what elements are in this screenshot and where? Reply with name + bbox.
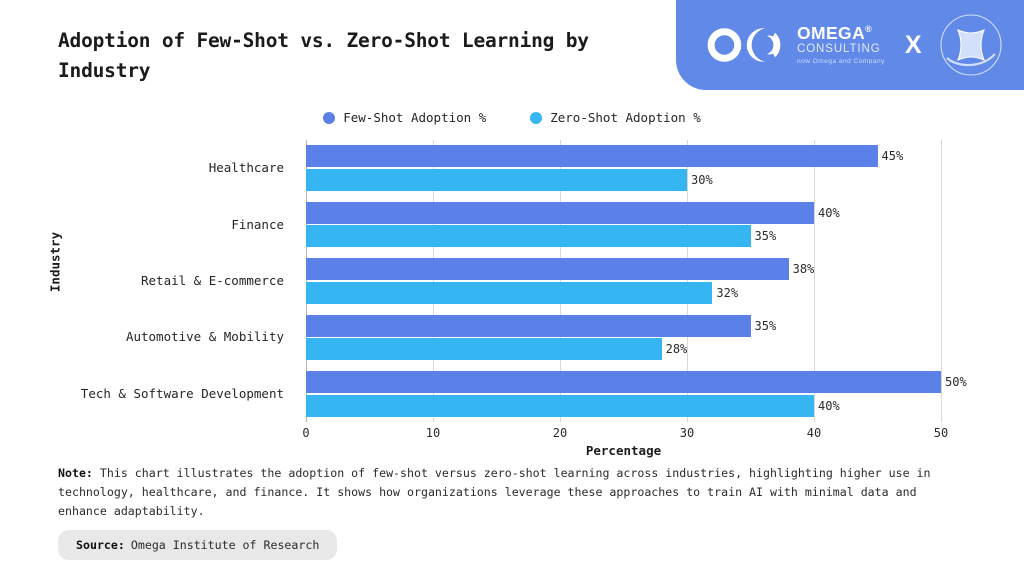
bar-value-label: 38% [789, 262, 815, 276]
brand-wordmark: OMEGA® CONSULTING now Omega and Company [797, 25, 885, 66]
registered-mark: ® [865, 24, 872, 34]
x-axis-tick-label: 40 [807, 426, 821, 440]
source-text: Omega Institute of Research [131, 538, 319, 552]
bar-value-label: 45% [878, 149, 904, 163]
note-label: Note: [58, 466, 93, 480]
y-axis-label: Automotive & Mobility [0, 329, 284, 344]
legend-item-zero-shot[interactable]: Zero-Shot Adoption % [530, 110, 701, 125]
bar-group: 35% [306, 315, 941, 337]
bar-value-label: 50% [941, 375, 967, 389]
bar-few-shot[interactable] [306, 145, 878, 167]
source-badge: Source: Omega Institute of Research [58, 530, 337, 560]
x-axis-tick-label: 20 [553, 426, 567, 440]
infinity-logo-icon [702, 23, 786, 67]
x-axis-title: Percentage [306, 443, 941, 458]
y-axis-label: Healthcare [0, 160, 284, 175]
y-axis-label: Tech & Software Development [0, 386, 284, 401]
brand-subtitle: CONSULTING [797, 44, 885, 56]
bar-zero-shot[interactable] [306, 338, 662, 360]
bar-group: 28% [306, 338, 941, 360]
y-axis-label: Finance [0, 217, 284, 232]
chart-note: Note: This chart illustrates the adoptio… [58, 464, 970, 520]
bar-value-label: 35% [751, 229, 777, 243]
brand-name: OMEGA® [797, 25, 885, 43]
chart-page: Adoption of Few-Shot vs. Zero-Shot Learn… [0, 0, 1024, 576]
brand-separator-x: X [905, 31, 922, 60]
page-title: Adoption of Few-Shot vs. Zero-Shot Learn… [58, 26, 658, 85]
y-axis-title: Industry [48, 232, 63, 292]
bar-group: 40% [306, 202, 941, 224]
legend-swatch-icon [323, 112, 335, 124]
bar-group: 35% [306, 225, 941, 247]
bar-zero-shot[interactable] [306, 225, 751, 247]
y-axis-category-labels: HealthcareFinanceRetail & E-commerceAuto… [0, 140, 296, 422]
source-label: Source: [76, 538, 125, 552]
bar-value-label: 35% [751, 319, 777, 333]
bar-value-label: 40% [814, 206, 840, 220]
bar-group: 32% [306, 282, 941, 304]
bar-zero-shot[interactable] [306, 282, 712, 304]
bar-zero-shot[interactable] [306, 169, 687, 191]
bar-value-label: 40% [814, 399, 840, 413]
legend-swatch-icon [530, 112, 542, 124]
brand-banner: OMEGA® CONSULTING now Omega and Company … [676, 0, 1024, 90]
y-axis-label: Retail & E-commerce [0, 273, 284, 288]
bar-value-label: 32% [712, 286, 738, 300]
x-axis-tick-label: 0 [302, 426, 309, 440]
bar-few-shot[interactable] [306, 315, 751, 337]
bar-few-shot[interactable] [306, 258, 789, 280]
brand-tagline: now Omega and Company [797, 59, 885, 66]
note-text: This chart illustrates the adoption of f… [58, 466, 931, 518]
bar-group: 40% [306, 395, 941, 417]
bar-few-shot[interactable] [306, 202, 814, 224]
legend-label: Zero-Shot Adoption % [550, 110, 701, 125]
bar-group: 50% [306, 371, 941, 393]
brand-lockup: OMEGA® CONSULTING now Omega and Company … [702, 12, 1004, 78]
x-axis-tick-label: 10 [426, 426, 440, 440]
legend-label: Few-Shot Adoption % [343, 110, 486, 125]
bar-value-label: 28% [662, 342, 688, 356]
bar-few-shot[interactable] [306, 371, 941, 393]
bar-group: 30% [306, 169, 941, 191]
bar-value-label: 30% [687, 173, 713, 187]
chart-legend: Few-Shot Adoption %Zero-Shot Adoption % [0, 110, 1024, 125]
legend-item-few-shot[interactable]: Few-Shot Adoption % [323, 110, 486, 125]
plot-area: 45%30%40%35%38%32%35%28%50%40% [306, 140, 941, 422]
bar-group: 38% [306, 258, 941, 280]
bar-group: 45% [306, 145, 941, 167]
bar-zero-shot[interactable] [306, 395, 814, 417]
x-axis-tick-label: 50 [934, 426, 948, 440]
x-axis-tick-label: 30 [680, 426, 694, 440]
partner-circle-logo-icon [938, 12, 1004, 78]
